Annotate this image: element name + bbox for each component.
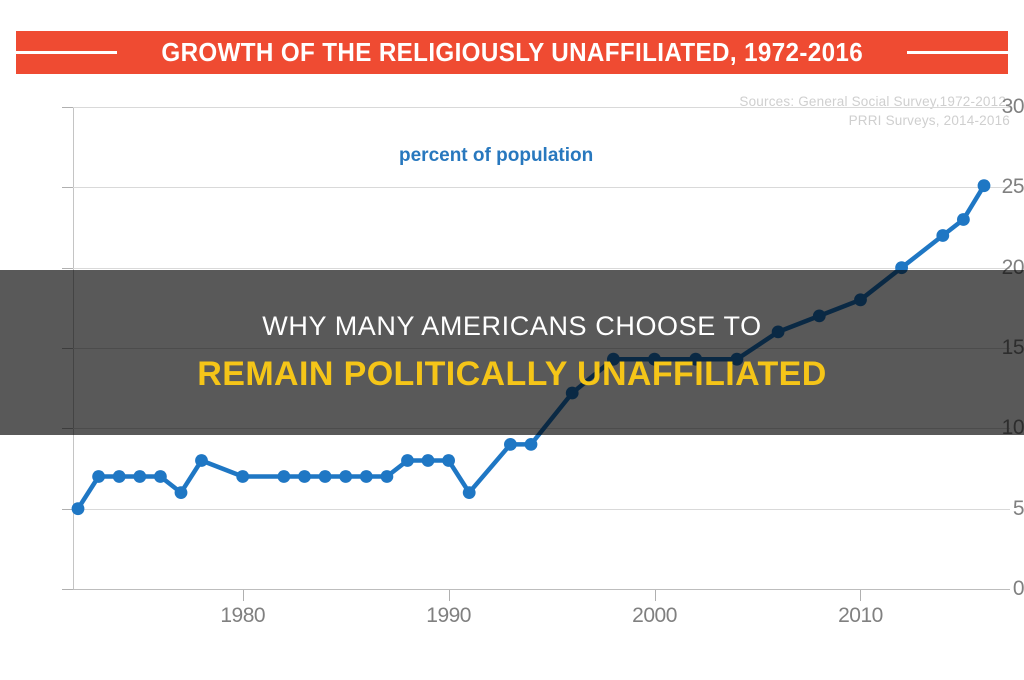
caption-block: WHY MANY AMERICANS CHOOSE TO REMAIN POLI… — [0, 270, 1024, 435]
page-title: GROWTH OF THE RELIGIOUSLY UNAFFILIATED, … — [161, 37, 863, 68]
data-point-1986 — [360, 470, 373, 483]
data-point-1977 — [175, 486, 188, 499]
data-point-1987 — [381, 470, 394, 483]
data-point-1972 — [72, 502, 85, 515]
caption-line-2: REMAIN POLITICALLY UNAFFILIATED — [197, 355, 826, 394]
data-point-1976 — [154, 470, 167, 483]
data-point-2014 — [936, 229, 949, 242]
data-point-1990 — [442, 454, 455, 467]
data-point-2015 — [957, 213, 970, 226]
data-point-1989 — [422, 454, 435, 467]
data-point-1982 — [278, 470, 291, 483]
title-banner: GROWTH OF THE RELIGIOUSLY UNAFFILIATED, … — [16, 31, 1008, 74]
data-point-1984 — [319, 470, 332, 483]
data-point-1974 — [113, 470, 126, 483]
data-point-1985 — [339, 470, 352, 483]
data-point-1978 — [195, 454, 208, 467]
data-point-2016 — [978, 179, 991, 192]
title-rule-right — [907, 51, 1024, 54]
data-point-1988 — [401, 454, 414, 467]
data-point-1991 — [463, 486, 476, 499]
title-rule-left — [0, 51, 117, 54]
caption-line-1: WHY MANY AMERICANS CHOOSE TO — [262, 311, 761, 342]
data-point-1983 — [298, 470, 311, 483]
data-point-1980 — [236, 470, 249, 483]
data-point-1975 — [133, 470, 146, 483]
data-point-1993 — [504, 438, 517, 451]
data-point-1973 — [92, 470, 105, 483]
data-point-1994 — [525, 438, 538, 451]
